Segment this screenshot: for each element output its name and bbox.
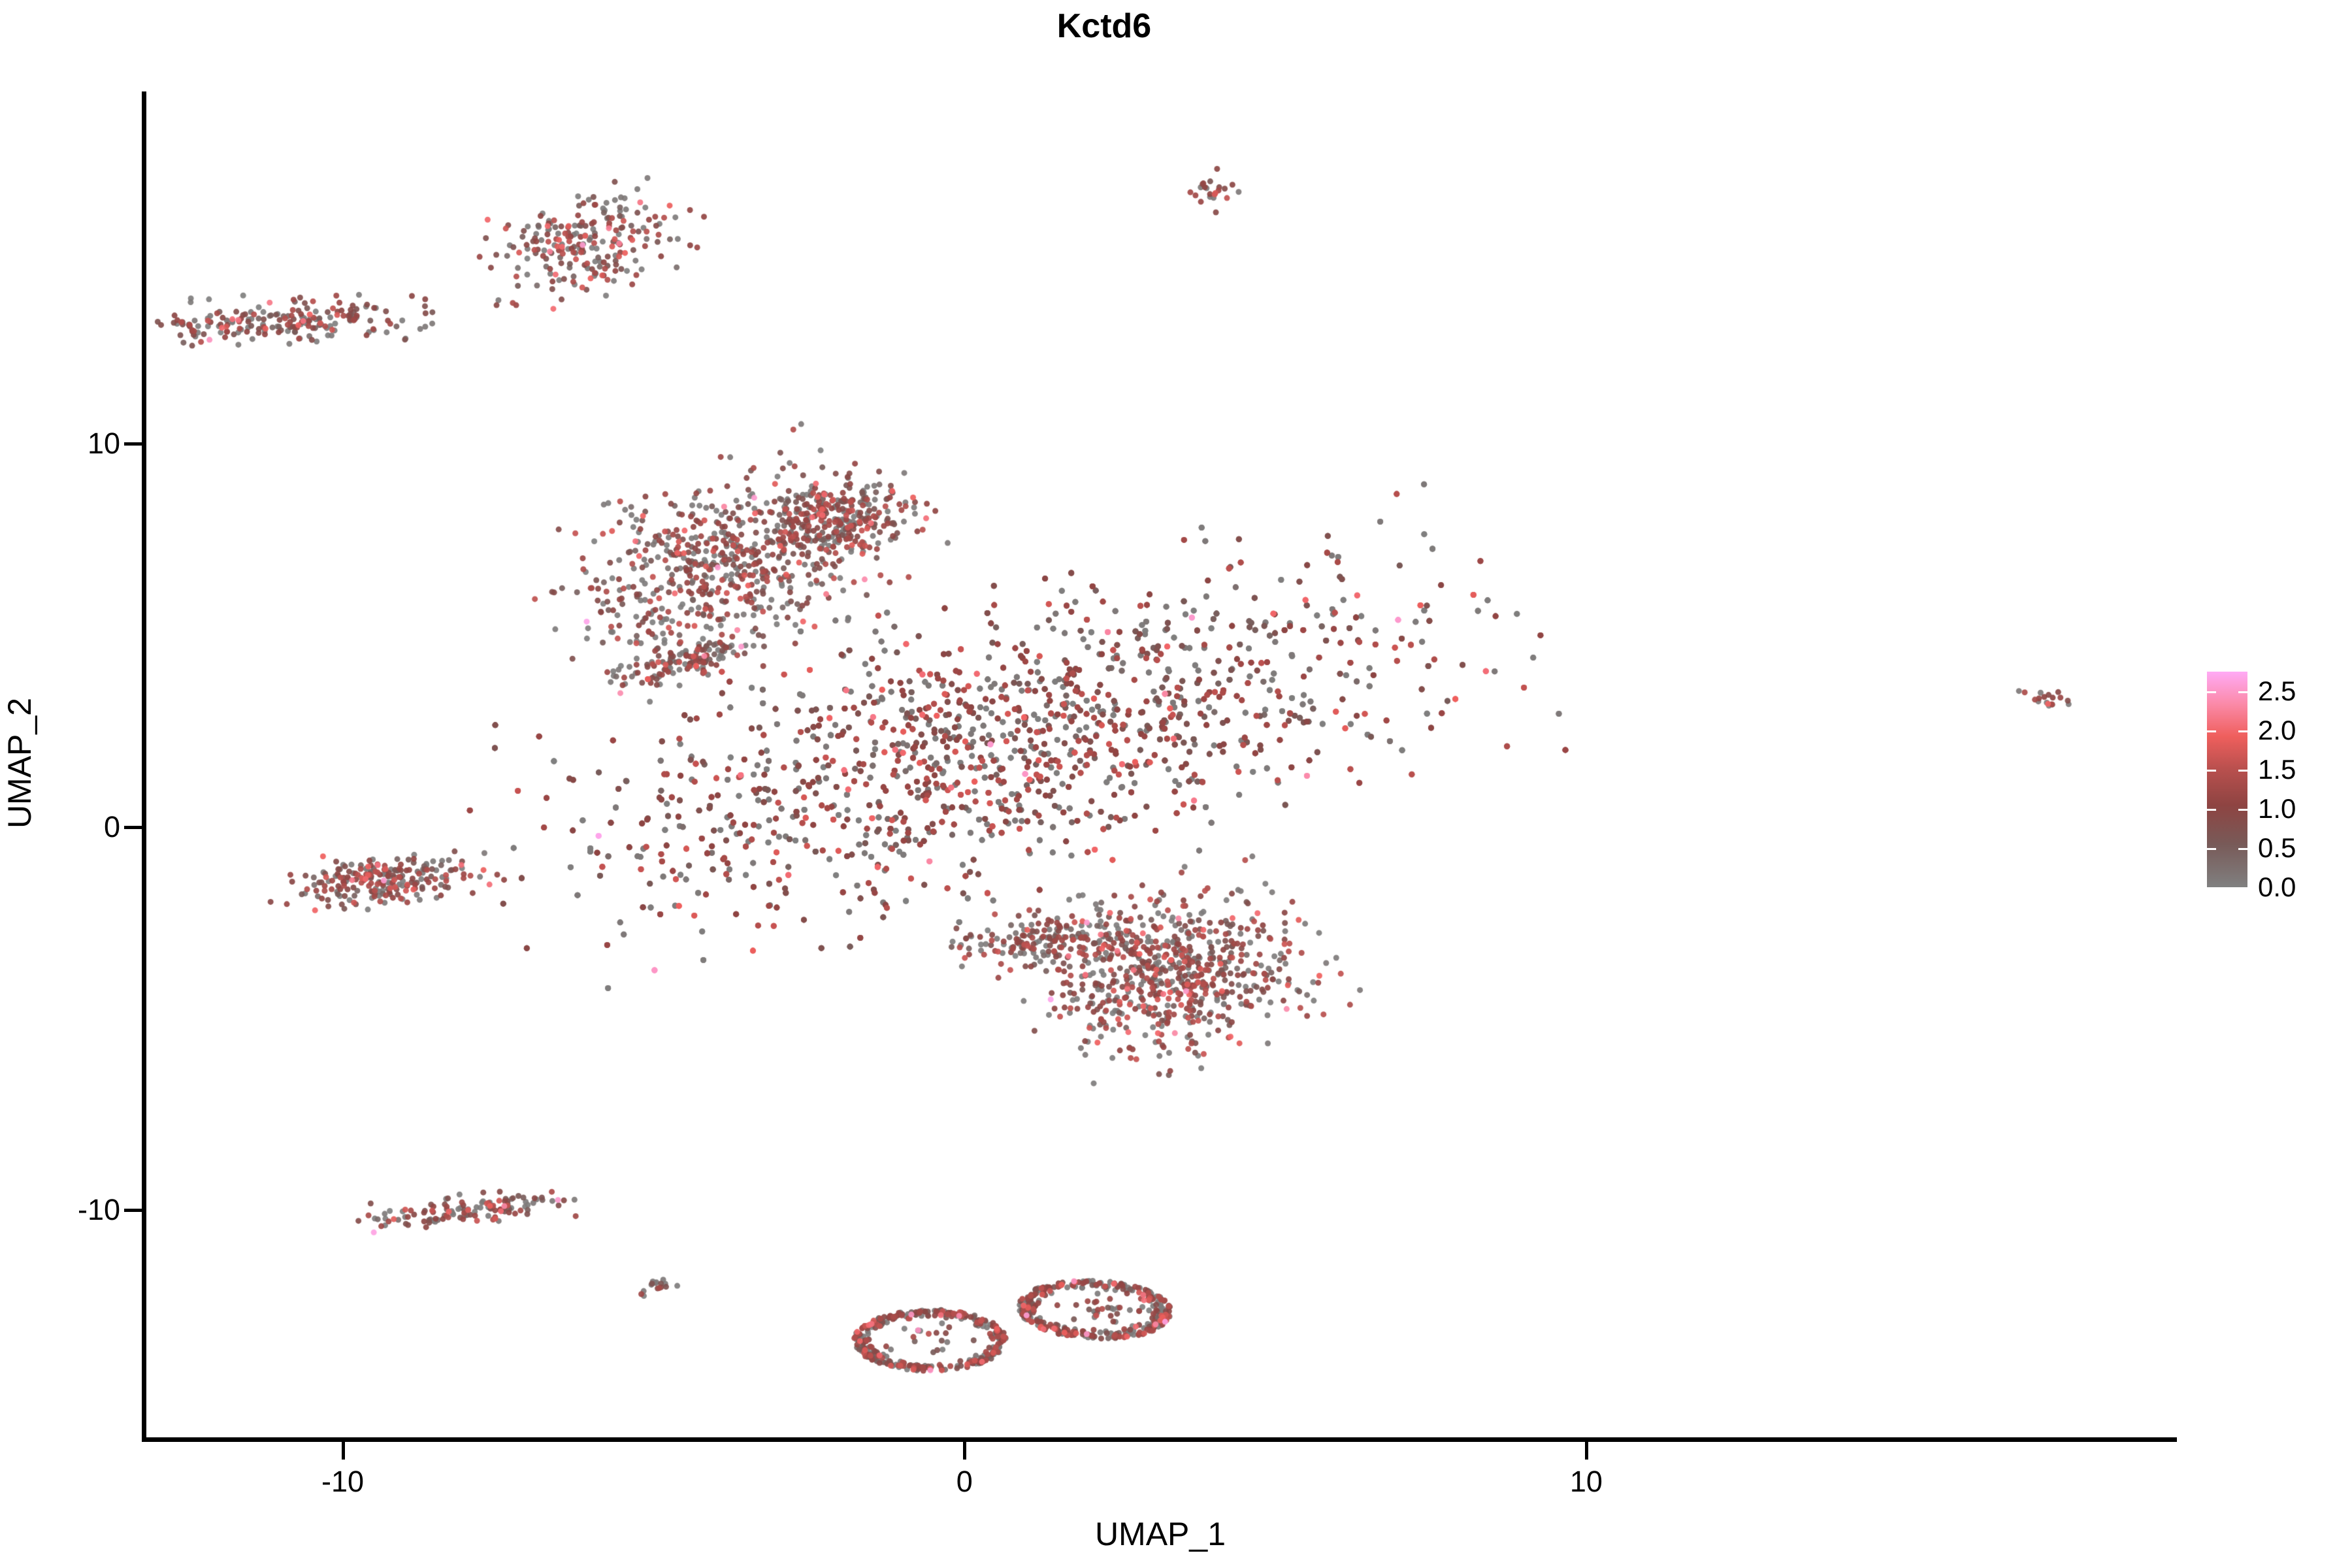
y-tick-mark (124, 1209, 142, 1212)
y-axis-title: UMAP_2 (1, 534, 38, 992)
x-tick-label: 0 (886, 1467, 1043, 1496)
plot-panel (144, 91, 2177, 1440)
y-axis-line (142, 91, 146, 1442)
legend-tick-label: 1.0 (2258, 795, 2296, 823)
umap-feature-plot: Kctd6 -10010 -10010 UMAP_1 UMAP_2 2.52.0… (0, 0, 2352, 1568)
legend-tick-label: 2.0 (2258, 717, 2296, 744)
y-tick-mark (124, 442, 142, 446)
legend-tick-label: 1.5 (2258, 756, 2296, 783)
legend-tick-label: 0.5 (2258, 834, 2296, 862)
x-tick-mark (963, 1442, 966, 1460)
x-axis-title: UMAP_1 (144, 1516, 2177, 1552)
x-tick-label: 10 (1508, 1467, 1665, 1496)
legend: 2.52.01.51.00.50.0 (2207, 666, 2338, 892)
y-tick-label: -10 (78, 1195, 120, 1224)
page-title: Kctd6 (0, 7, 2208, 46)
scatter-points-layer (144, 91, 2177, 1440)
x-tick-label: -10 (265, 1467, 421, 1496)
x-axis-line (142, 1437, 2177, 1442)
x-tick-mark (1585, 1442, 1588, 1460)
legend-tick-label: 2.5 (2258, 678, 2296, 705)
y-tick-label: 0 (104, 812, 120, 841)
legend-tick-label: 0.0 (2258, 874, 2296, 901)
legend-colorbar (2207, 672, 2247, 887)
y-tick-label: 10 (88, 429, 120, 458)
legend-tick-mark (2207, 887, 2247, 889)
y-tick-mark (124, 826, 142, 829)
x-tick-mark (342, 1442, 345, 1460)
